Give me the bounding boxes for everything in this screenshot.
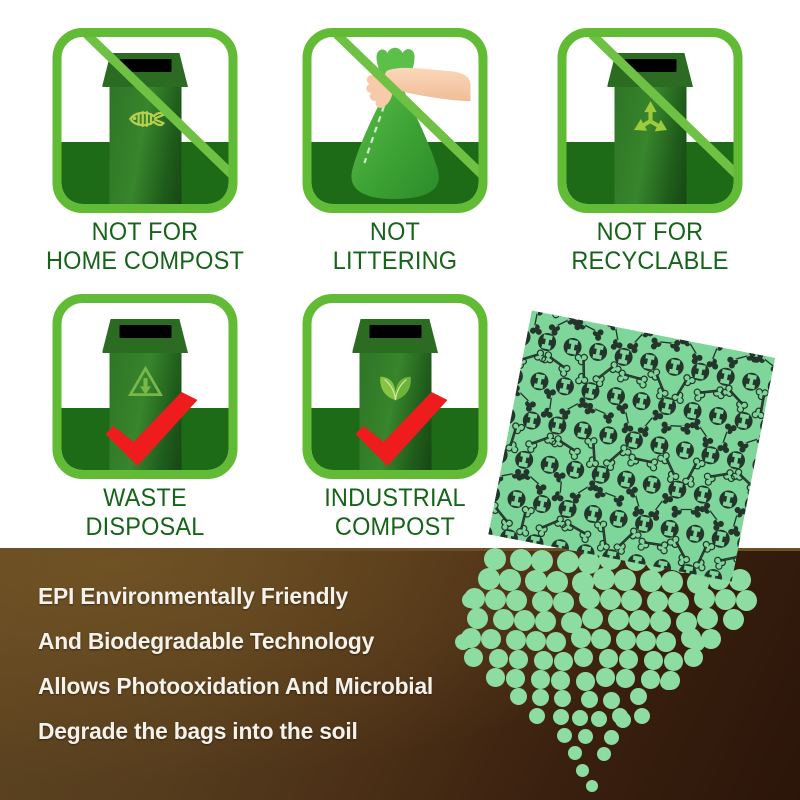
icon-caption: NOT LITTERING [278,218,513,276]
paw-print-icon [608,508,629,529]
icon-not-for-recyclable: NOT FOR RECYCLABLE [525,22,775,284]
dog-bone-icon [688,418,714,449]
paw-print-icon [674,440,695,461]
dog-bone-icon [540,388,556,419]
icon-caption-line1: INDUSTRIAL [278,484,513,513]
icon-caption-line1: NOT FOR [533,218,768,247]
dog-bone-icon [616,403,634,434]
product-infographic: NOT FOR HOME COMPOST [0,0,800,800]
check-svg [354,390,450,468]
icon-caption: WASTE DISPOSAL [28,484,263,542]
icon-caption-line2: HOME COMPOST [28,247,263,276]
dog-bone-icon [666,535,690,566]
dog-bone-icon [717,422,738,454]
paw-print-icon [554,376,575,397]
dog-bone-icon [647,368,669,400]
paw-print-icon [715,366,736,387]
icon-caption-line1: NOT FOR [28,218,263,247]
dog-bone-icon [518,468,548,496]
icon-caption-line2: RECYCLABLE [533,247,768,276]
dog-bone-icon [541,351,572,378]
icon-caption-line1: WASTE [28,484,263,513]
bag-pattern [488,311,775,582]
paw-print-icon [664,356,685,377]
red-check-icon [354,390,450,468]
dog-bone-icon [625,486,645,517]
dog-bone-icon [592,360,622,387]
dog-bone-icon [617,369,648,388]
trash-bin-icon [102,53,188,205]
paw-print-icon [631,391,652,412]
icon-caption-line1: NOT [278,218,513,247]
dog-bone-icon [505,422,525,453]
soil-panel: EPI Environmentally Friendly And Biodegr… [0,548,800,800]
icon-frame [53,28,238,213]
icon-caption: NOT FOR RECYCLABLE [533,218,768,276]
icon-not-littering: NOT LITTERING [270,22,520,284]
dog-bone-icon [569,479,600,505]
dog-bone-icon [698,501,725,532]
dog-bone-icon [558,396,589,421]
icon-caption-line2: LITTERING [278,247,513,276]
icon-waste-disposal: WASTE DISPOSAL [20,288,270,550]
dog-bone-icon [516,506,535,537]
dog-bone-icon [693,540,716,572]
hand-holding-trash-bag-icon [320,45,470,203]
paw-print-icon [682,401,703,422]
soil-line-3: Allows Photooxidation And Microbial [38,664,494,709]
bag-and-hand-svg [320,45,470,203]
dog-bone-icon [671,373,696,404]
soil-line-2: And Biodegradable Technology [38,619,494,664]
dog-bone-icon [647,491,674,522]
dog-bone-icon [551,435,582,461]
paw-print-icon [565,459,586,480]
icon-caption: NOT FOR HOME COMPOST [28,218,263,276]
dog-bone-icon [638,538,669,554]
dog-bone-icon [704,469,735,485]
icon-caption: INDUSTRIAL COMPOST [278,484,513,542]
dog-bone-icon [694,386,724,401]
bin-lid [352,319,438,353]
paw-print-icon [605,386,626,407]
red-check-icon [104,390,200,468]
paw-print-icon [708,405,729,426]
dog-bone-icon [594,521,609,551]
trash-bin-icon [607,53,693,205]
paw-print-icon [685,523,706,544]
icon-frame [303,294,488,479]
dog-bone-icon [636,408,664,438]
dog-waste-bag-sheet [488,311,775,582]
check-svg [104,390,200,468]
dog-bone-icon [585,438,599,468]
paw-print-icon [583,503,604,524]
icon-not-for-home-compost: NOT FOR HOME COMPOST [20,22,270,284]
bin-lid [102,319,188,353]
icon-frame [558,28,743,213]
dog-bone-icon [602,443,632,471]
paw-print-icon [572,420,593,441]
dog-bone-icon [575,354,587,383]
paw-print-icon [598,425,619,446]
dog-bone-icon [657,452,680,484]
dog-bone-icon [651,337,681,352]
bin-slot [369,325,421,338]
paw-print-icon [725,450,746,471]
dog-bone-icon [661,421,691,434]
icon-caption-line2: COMPOST [278,513,513,542]
dog-bone-icon [682,457,706,488]
dog-bone-icon [594,486,626,508]
paw-print-icon [718,489,739,510]
dog-bone-icon [720,384,749,414]
paw-print-icon [588,341,609,362]
dog-bone-icon [584,402,616,425]
dog-bone-icon [529,311,546,336]
icon-frame [303,28,488,213]
bin-slot [119,325,171,338]
icon-caption-line2: DISPOSAL [28,513,263,542]
paw-print-icon [613,346,634,367]
icon-industrial-compost: INDUSTRIAL COMPOST [270,288,520,550]
soil-line-4: Degrade the bags into the soil [38,709,494,754]
dog-bone-icon [672,506,701,518]
paw-print-icon [710,528,731,549]
dog-bone-icon [727,350,758,369]
soil-description: EPI Environmentally Friendly And Biodegr… [38,574,494,754]
dog-bone-icon [551,472,565,502]
icon-frame [53,294,238,479]
dog-bone-icon [627,454,658,472]
paw-print-icon [641,474,662,495]
paw-print-icon [692,484,713,505]
dog-bone-icon [613,527,642,556]
bag-pattern-svg [488,311,775,582]
soil-line-1: EPI Environmentally Friendly [38,574,494,619]
